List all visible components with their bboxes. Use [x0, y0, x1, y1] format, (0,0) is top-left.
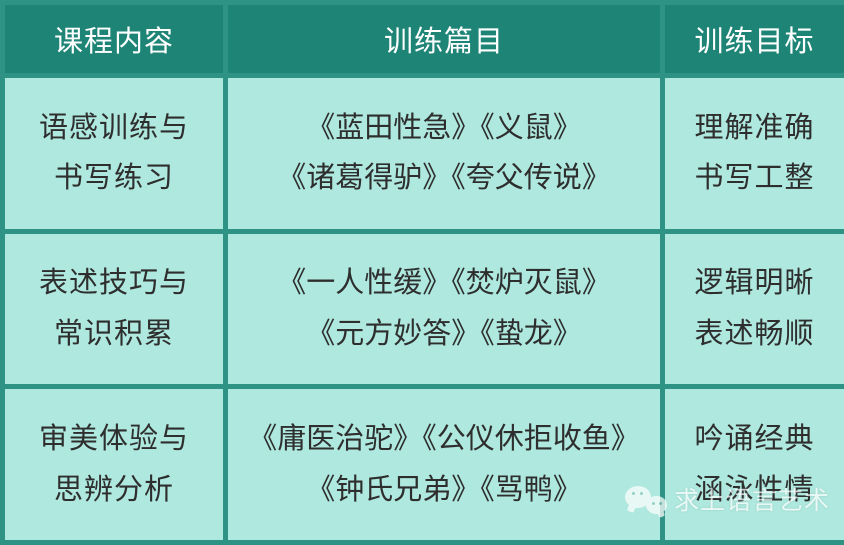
schedule-table-container: 课程内容 训练篇目 训练目标 语感训练与 书写练习 《蓝田性急》《义鼠》 《诸葛…: [0, 0, 844, 545]
cell-text-line: 思辨分析: [11, 465, 217, 516]
cell-training-titles: 《蓝田性急》《义鼠》 《诸葛得驴》《夸父传说》: [228, 78, 660, 229]
cell-text-line: 《诸葛得驴》《夸父传说》: [234, 153, 654, 204]
cell-text-line: 审美体验与: [11, 414, 217, 465]
table-row: 语感训练与 书写练习 《蓝田性急》《义鼠》 《诸葛得驴》《夸父传说》 理解准确 …: [5, 78, 844, 229]
cell-text-line: 语感训练与: [11, 103, 217, 154]
cell-text-line: 常识积累: [11, 309, 217, 360]
cell-training-goal: 吟诵经典 涵泳性情: [665, 389, 844, 540]
cell-training-goal: 逻辑明晰 表述畅顺: [665, 234, 844, 385]
table-row: 审美体验与 思辨分析 《庸医治驼》《公仪休拒收鱼》 《钟氏兄弟》《骂鸭》 吟诵经…: [5, 389, 844, 540]
header-cell-course-content: 课程内容: [5, 5, 223, 73]
cell-training-titles: 《庸医治驼》《公仪休拒收鱼》 《钟氏兄弟》《骂鸭》: [228, 389, 660, 540]
cell-text-line: 逻辑明晰: [671, 258, 838, 309]
cell-course-content: 审美体验与 思辨分析: [5, 389, 223, 540]
cell-text-line: 表述畅顺: [671, 309, 838, 360]
header-cell-training-goals: 训练目标: [665, 5, 844, 73]
cell-text-line: 理解准确: [671, 103, 838, 154]
cell-text-line: 书写工整: [671, 153, 838, 204]
cell-text-line: 《元方妙答》《蛰龙》: [234, 309, 654, 360]
cell-course-content: 语感训练与 书写练习: [5, 78, 223, 229]
cell-course-content: 表述技巧与 常识积累: [5, 234, 223, 385]
cell-text-line: 《蓝田性急》《义鼠》: [234, 103, 654, 154]
course-training-table: 课程内容 训练篇目 训练目标 语感训练与 书写练习 《蓝田性急》《义鼠》 《诸葛…: [0, 0, 844, 545]
table-header: 课程内容 训练篇目 训练目标: [5, 5, 844, 73]
cell-text-line: 书写练习: [11, 153, 217, 204]
cell-text-line: 《庸医治驼》《公仪休拒收鱼》: [234, 414, 654, 465]
header-row: 课程内容 训练篇目 训练目标: [5, 5, 844, 73]
cell-text-line: 表述技巧与: [11, 258, 217, 309]
cell-training-goal: 理解准确 书写工整: [665, 78, 844, 229]
header-cell-training-titles: 训练篇目: [228, 5, 660, 73]
table-body: 语感训练与 书写练习 《蓝田性急》《义鼠》 《诸葛得驴》《夸父传说》 理解准确 …: [5, 78, 844, 540]
cell-text-line: 《一人性缓》《焚炉灭鼠》: [234, 258, 654, 309]
cell-text-line: 涵泳性情: [671, 465, 838, 516]
table-row: 表述技巧与 常识积累 《一人性缓》《焚炉灭鼠》 《元方妙答》《蛰龙》 逻辑明晰 …: [5, 234, 844, 385]
cell-text-line: 吟诵经典: [671, 414, 838, 465]
cell-training-titles: 《一人性缓》《焚炉灭鼠》 《元方妙答》《蛰龙》: [228, 234, 660, 385]
cell-text-line: 《钟氏兄弟》《骂鸭》: [234, 465, 654, 516]
